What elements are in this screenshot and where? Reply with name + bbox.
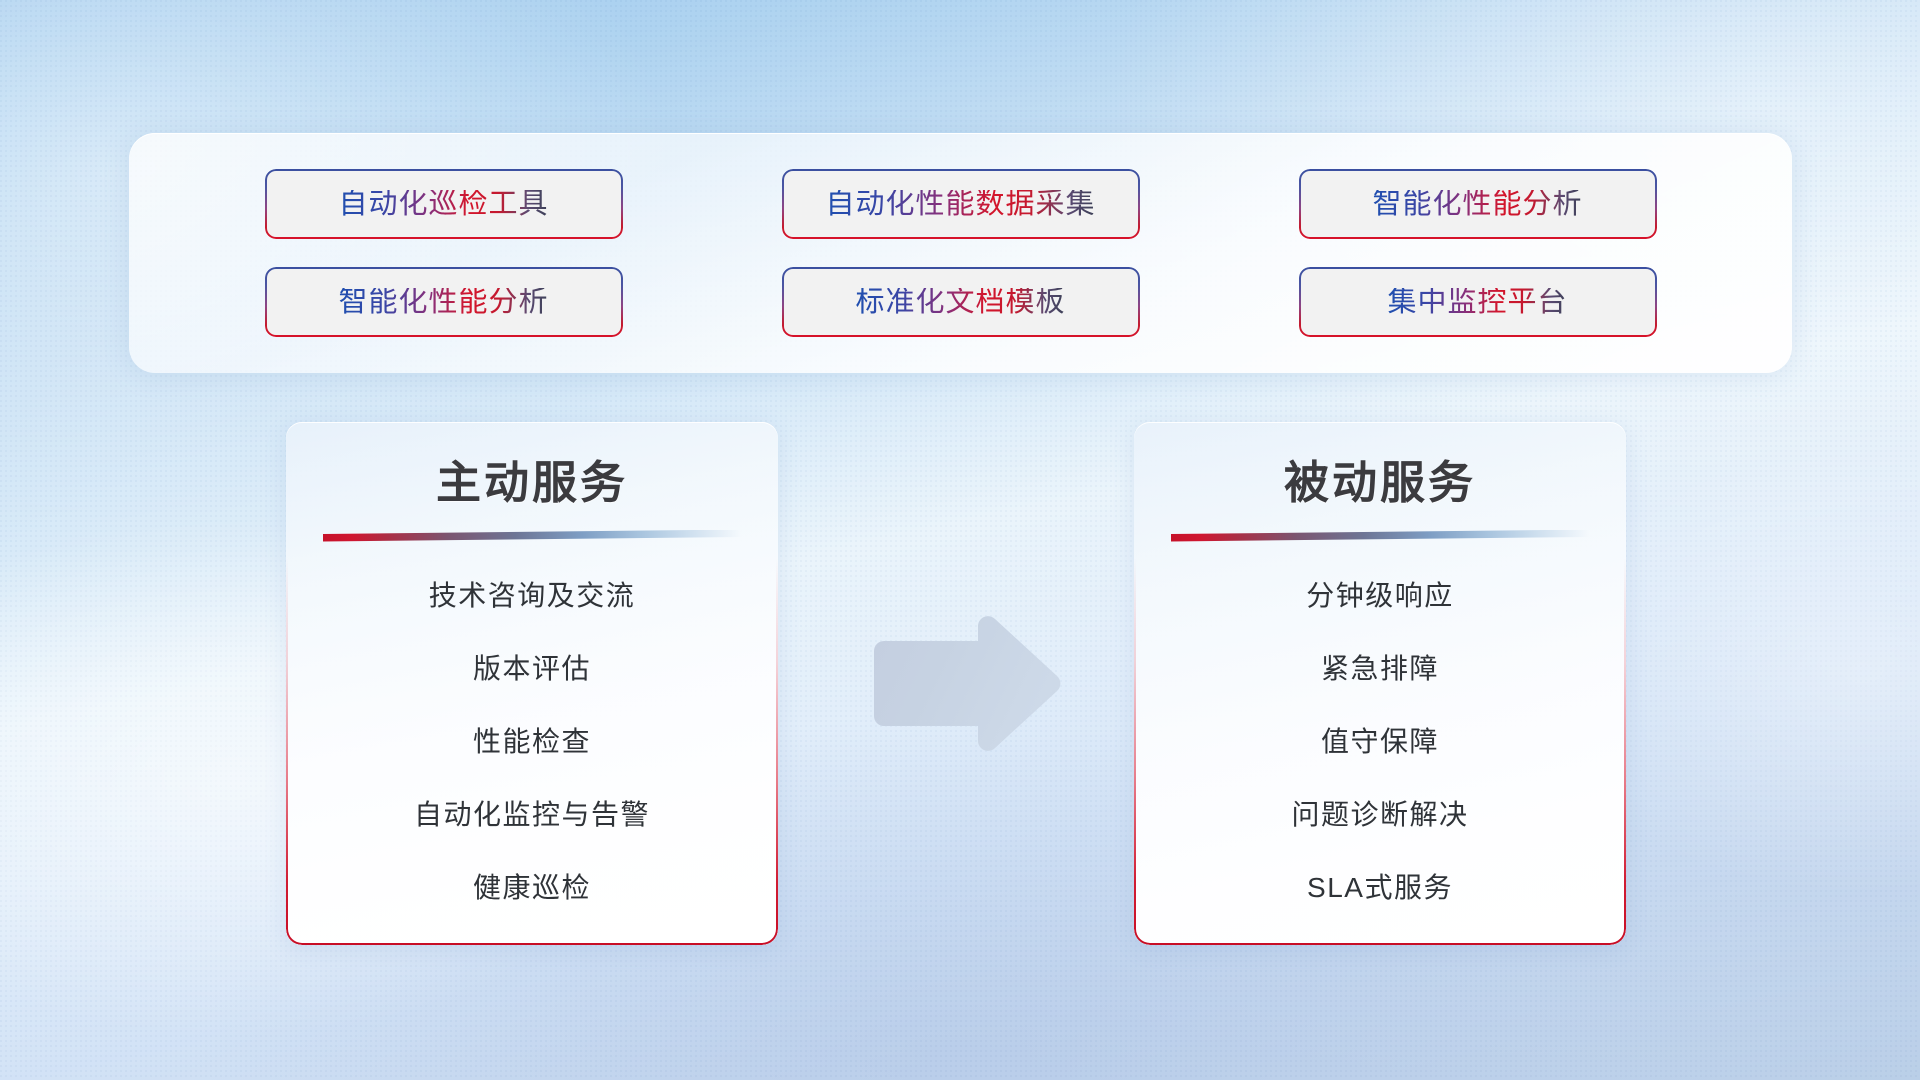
service-card-proactive: 主动服务 技术咨询及交流 版本评估 性能检查 自动化监控与告警 健康巡检	[286, 422, 778, 945]
service-card-title: 主动服务	[286, 458, 778, 508]
capability-tags-panel: 自动化巡检工具 自动化性能数据采集 智能化性能分析 智能化性能分析 标准化文档模…	[129, 133, 1792, 373]
service-list-item: 值守保障	[1134, 728, 1626, 756]
title-divider	[1171, 530, 1589, 542]
capability-tag-label: 标准化文档模板	[855, 288, 1065, 317]
service-list-item: 问题诊断解决	[1134, 801, 1626, 829]
title-divider	[323, 530, 741, 542]
service-list-item: 紧急排障	[1134, 655, 1626, 683]
service-list-item: 版本评估	[286, 655, 778, 683]
service-item-list: 分钟级响应 紧急排障 值守保障 问题诊断解决 SLA式服务	[1134, 582, 1626, 902]
capability-tag-intelligent-performance-analysis[interactable]: 智能化性能分析	[1299, 169, 1657, 239]
service-item-list: 技术咨询及交流 版本评估 性能检查 自动化监控与告警 健康巡检	[286, 582, 778, 902]
capability-tag-label: 集中监控平台	[1387, 288, 1567, 317]
slide-canvas: 自动化巡检工具 自动化性能数据采集 智能化性能分析 智能化性能分析 标准化文档模…	[0, 0, 1920, 1080]
capability-tag-automated-performance-data-collection[interactable]: 自动化性能数据采集	[782, 169, 1140, 239]
service-list-item: 自动化监控与告警	[286, 801, 778, 829]
arrow-right-icon	[866, 614, 1064, 753]
service-list-item: SLA式服务	[1134, 874, 1626, 902]
service-card-reactive: 被动服务 分钟级响应 紧急排障 值守保障 问题诊断解决 SLA式服务	[1134, 422, 1626, 945]
service-card-title: 被动服务	[1134, 458, 1626, 508]
capability-tag-label: 自动化性能数据采集	[825, 190, 1095, 219]
service-list-item: 性能检查	[286, 728, 778, 756]
capability-tag-centralized-monitoring-platform[interactable]: 集中监控平台	[1299, 267, 1657, 337]
capability-tag-intelligent-performance-analysis-2[interactable]: 智能化性能分析	[265, 267, 623, 337]
service-list-item: 健康巡检	[286, 874, 778, 902]
capability-tag-standardized-document-template[interactable]: 标准化文档模板	[782, 267, 1140, 337]
capability-tag-label: 自动化巡检工具	[338, 190, 548, 219]
service-list-item: 技术咨询及交流	[286, 582, 778, 610]
capability-tag-automation-inspection-tool[interactable]: 自动化巡检工具	[265, 169, 623, 239]
service-list-item: 分钟级响应	[1134, 582, 1626, 610]
capability-tag-label: 智能化性能分析	[338, 288, 548, 317]
capability-tag-label: 智能化性能分析	[1372, 190, 1582, 219]
